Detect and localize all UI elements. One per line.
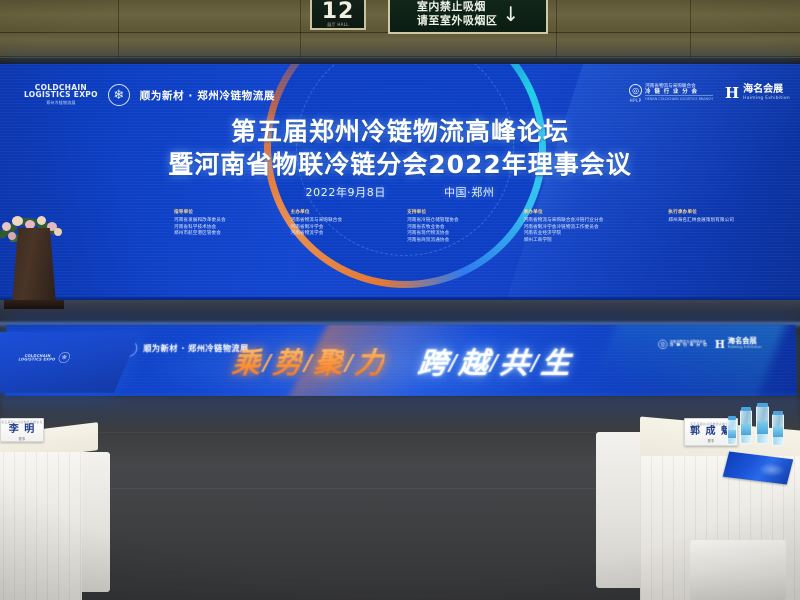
left-table-skirt	[0, 452, 82, 600]
main-led-screen: COLDCHAIN LOGISTICS EXPO 郑州冷链物流展 ❄ 顺为新材 …	[0, 64, 800, 299]
event-location: 中国·郑州	[444, 184, 495, 200]
organizer-column-heading: 执行承办单位	[668, 210, 734, 217]
organizer-column: 主办单位河南省物流与采购联合会河南省制冷学会河南省物流学会	[291, 210, 343, 238]
organizer-column-heading: 指导单位	[174, 210, 226, 217]
haiming-logo: H 海名会展 Haiming Exhibition	[725, 85, 790, 103]
organizer-item: 河南省发展和改革委员会	[174, 218, 226, 225]
slogan-group-orange: 乘/势/聚/力	[232, 347, 384, 379]
screen-title-block: 第五届郑州冷链物流高峰论坛 暨河南省物联冷链分会2022年理事会议	[0, 116, 800, 182]
slogan-separator-icon: /	[342, 351, 355, 376]
organizer-item: 郑州海名汇林会展策划有限公司	[668, 218, 734, 225]
right-namecard-role: 理事	[708, 438, 715, 443]
organizer-column-heading: 承办单位	[524, 210, 604, 217]
organizer-column: 执行承办单位郑州海名汇林会展策划有限公司	[668, 210, 734, 225]
snowflake-icon: ❄	[108, 84, 130, 106]
slogan-separator-icon: /	[529, 351, 542, 376]
organizer-item: 河南省冷链仓储管理协会	[407, 218, 459, 225]
platform-snowflake-icon: ❄	[58, 352, 71, 363]
organizer-column: 指导单位河南省发展和改革委员会河南省科学技术协会郑州市航空港区管委会	[174, 210, 226, 238]
hplp-cn-line3: HENAN COLDCHAIN LOGISTICS BRANCH	[645, 95, 713, 103]
photo-scene: 12 展厅 HALL 室内禁止吸烟 请至室外吸烟区 ↓ COLDCHAIN LO…	[0, 0, 800, 600]
band-haiming-glyph-icon: H	[715, 339, 725, 350]
band-cyan-streak	[568, 325, 793, 397]
right-chair-back	[690, 540, 786, 600]
down-arrow-icon: ↓	[502, 4, 519, 24]
hall-number-label: 12	[322, 2, 355, 22]
left-name-card: 第五届郑州冷链物流高峰论坛 李 明 理事	[0, 418, 44, 442]
organizer-column: 承办单位河南省物流与采购联合会冷链行业分会河南省制冷学会冷链物流工作委员会河南农…	[524, 210, 604, 244]
expo-logo-line2: LOGISTICS EXPO	[24, 91, 98, 98]
water-bottle-3	[772, 414, 784, 446]
band-haiming-cn-label: 海名会展	[728, 338, 762, 344]
haiming-en-label: Haiming Exhibition	[743, 94, 790, 103]
slogan-char: 力	[353, 347, 385, 379]
water-bottle-2	[756, 406, 769, 444]
event-meta-row: 2022年9月8日 中国·郑州	[0, 184, 800, 200]
slogan-char: 势	[271, 347, 304, 379]
organizer-item: 郑州工商学院	[524, 238, 604, 245]
organizer-item: 郑州市航空港区管委会	[174, 231, 226, 238]
band-hplp-cn-line2: 冷 链 行 业 分 会	[670, 344, 708, 348]
hall-number-sign: 12 展厅 HALL	[310, 0, 366, 30]
no-smoking-line2: 请至室外吸烟区	[417, 14, 498, 27]
slogan-separator-icon: /	[487, 351, 500, 376]
organizer-item: 河南省商贸流通协会	[407, 238, 459, 245]
slogan-char: 乘	[230, 347, 263, 379]
band-right-logos: ◎ 河南省物流与采购联合会 冷 链 行 业 分 会 H 海名会展 Haiming…	[658, 338, 762, 351]
organizer-column: 支持单位河南省冷链仓储管理协会河南省农牧业协会河南省现代物流协会河南省商贸流通协…	[407, 210, 459, 244]
organizer-item: 河南省物流与采购联合会冷链行业分会	[524, 218, 604, 225]
haiming-cn-label: 海名会展	[743, 85, 790, 94]
slogan-char: 跨	[416, 347, 448, 379]
slogan-char: 聚	[312, 347, 344, 379]
band-hplp-cn-line1: 河南省物流与采购联合会	[670, 340, 708, 344]
organizer-item: 河南农业经济学院	[524, 231, 604, 238]
band-orange-streak	[263, 325, 528, 397]
hplp-logo: ◎ HPLP 河南省物流与采购联合会 冷 链 行 业 分 会 HENAN COL…	[629, 84, 713, 103]
water-bottle-1	[740, 410, 752, 444]
event-date: 2022年9月8日	[306, 184, 386, 200]
screen-right-logos: ◎ HPLP 河南省物流与采购联合会 冷 链 行 业 分 会 HENAN COL…	[629, 84, 790, 103]
organizer-item: 河南省现代物流协会	[407, 231, 459, 238]
band-haiming-logo: H 海名会展 Haiming Exhibition	[715, 338, 762, 351]
slogan-char: 共	[499, 347, 531, 379]
organizer-column-heading: 支持单位	[407, 210, 459, 217]
hplp-abbr-label: HPLP	[630, 98, 642, 103]
partner-brand-label: 顺为新材 · 郑州冷链物流展	[140, 88, 275, 103]
slogan-separator-icon: /	[301, 351, 314, 376]
event-title-line2: 暨河南省物联冷链分会2022年理事会议	[0, 148, 800, 182]
screen-left-logos: COLDCHAIN LOGISTICS EXPO 郑州冷链物流展 ❄ 顺为新材 …	[24, 84, 275, 106]
organizer-item: 河南省物流学会	[291, 231, 343, 238]
left-namecard-name: 李 明	[9, 424, 35, 436]
planter-base	[4, 300, 64, 309]
organizer-item: 河南省物流与采购联合会	[291, 218, 343, 225]
coldchain-expo-logo: COLDCHAIN LOGISTICS EXPO 郑州冷链物流展	[24, 84, 98, 106]
haiming-glyph-icon: H	[725, 86, 739, 101]
band-haiming-en-label: Haiming Exhibition	[728, 344, 762, 350]
flower-planter	[12, 228, 56, 304]
organizer-column-heading: 主办单位	[291, 210, 343, 217]
no-smoking-line1: 室内禁止吸烟	[417, 0, 498, 13]
band-partner-brand-label: 顺为新材 · 郑州冷链物流展	[143, 342, 248, 354]
slogan-separator-icon: /	[446, 351, 459, 376]
band-hplp-logo: ◎ 河南省物流与采购联合会 冷 链 行 业 分 会	[658, 339, 708, 348]
event-title-line1: 第五届郑州冷链物流高峰论坛	[0, 116, 800, 148]
platform-expo-line2: LOGISTICS EXPO	[18, 358, 56, 362]
slogan-separator-icon: /	[260, 351, 273, 376]
platform-logo: COLDCHAIN LOGISTICS EXPO ❄	[18, 352, 71, 363]
hall-number-sub-label: 展厅 HALL	[327, 22, 349, 27]
band-hplp-mark-icon: ◎	[658, 339, 667, 348]
left-namecard-role: 理事	[19, 436, 26, 441]
water-bottle-4	[727, 419, 737, 445]
no-smoking-sign: 室内禁止吸烟 请至室外吸烟区 ↓	[388, 0, 548, 34]
hplp-mark-icon: ◎	[629, 84, 642, 97]
slogan-char: 越	[457, 347, 489, 379]
organizer-columns: 指导单位河南省发展和改革委员会河南省科学技术协会郑州市航空港区管委会主办单位河南…	[174, 210, 734, 244]
slogan-char: 生	[540, 347, 572, 379]
slogan-group-white: 跨/越/共/生	[418, 347, 570, 379]
expo-logo-line3: 郑州冷链物流展	[46, 99, 75, 106]
right-namecard-name: 郭 成 魁	[690, 426, 732, 438]
